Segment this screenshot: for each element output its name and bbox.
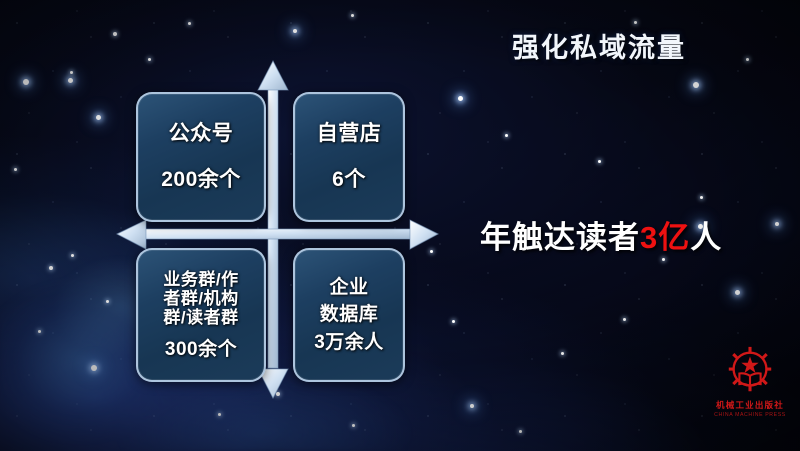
quadrant-title-line-3: 群/读者群 (163, 308, 238, 327)
quadrant-title: 自营店 (317, 122, 382, 146)
quadrant-title-line-1: 企业 (329, 277, 368, 298)
quadrant-box-community-groups[interactable]: 业务群/作 者群/机构 群/读者群 300余个 (136, 248, 266, 382)
publisher-name-cn: 机械工业出版社 (716, 399, 784, 411)
publisher-logo: 机械工业出版社 CHINA MACHINE PRESS (708, 344, 792, 426)
quadrant-title-line-2: 数据库 (320, 304, 379, 325)
reach-highlight: 3亿 (640, 220, 690, 255)
gear-star-book-icon (721, 344, 779, 398)
quadrant-box-self-operated-stores[interactable]: 自营店 6个 (293, 92, 405, 222)
quadrant-count: 3万余人 (314, 332, 384, 353)
publisher-name-en: CHINA MACHINE PRESS (714, 412, 786, 418)
quadrant-title-line-2: 者群/机构 (163, 289, 238, 308)
quadrant-box-enterprise-database[interactable]: 企业 数据库 3万余人 (293, 248, 405, 382)
quadrant-count: 300余个 (165, 339, 237, 360)
presentation-slide: 公众号 200余个 自营店 6个 业务群/作 者群/机构 群/读者群 300余个… (0, 0, 800, 451)
annual-reach-statement: 年触达读者3亿人 (480, 212, 722, 257)
quadrant-count: 200余个 (161, 168, 241, 192)
quadrant-box-public-accounts[interactable]: 公众号 200余个 (136, 92, 266, 222)
reach-suffix: 人 (690, 220, 722, 255)
quadrant-title-line-1: 业务群/作 (163, 270, 238, 289)
quadrant-count: 6个 (332, 168, 366, 192)
reach-prefix: 年触达读者 (480, 220, 640, 255)
quadrant-title: 公众号 (169, 122, 234, 146)
slide-headline: 强化私域流量 (512, 26, 686, 65)
